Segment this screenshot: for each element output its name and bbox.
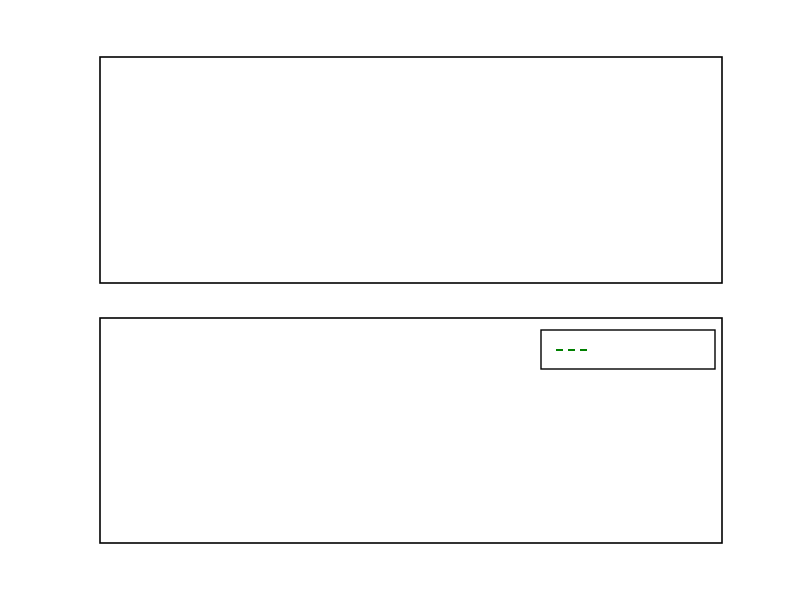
matplotlib-figure [0,0,800,600]
top-panel-differential-histogram [100,57,722,283]
legend[interactable] [541,330,715,369]
legend-frame [541,330,715,369]
figure-canvas [0,0,800,600]
top-plot-background [100,57,722,283]
